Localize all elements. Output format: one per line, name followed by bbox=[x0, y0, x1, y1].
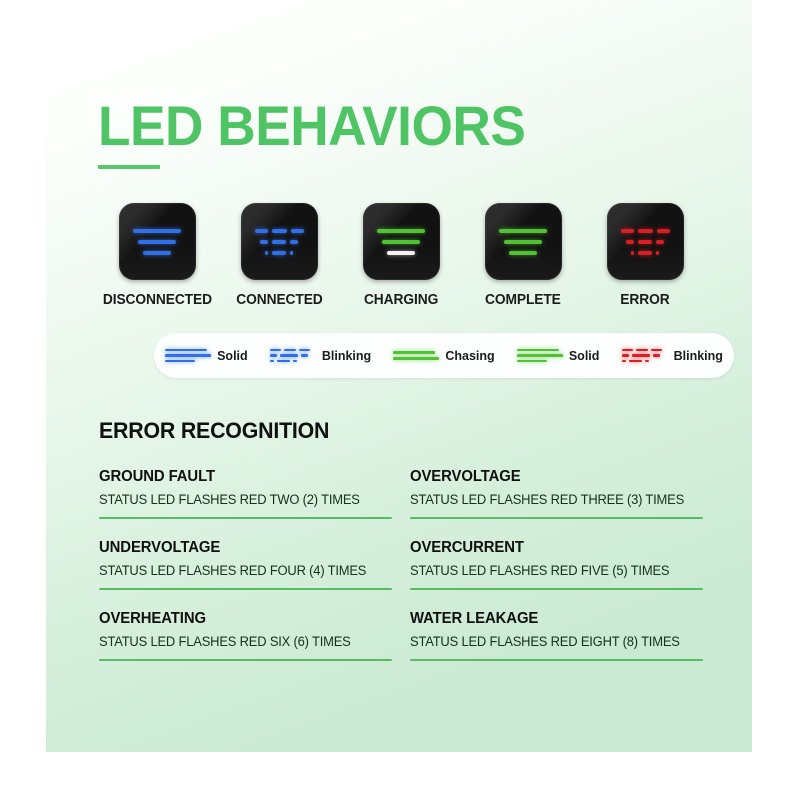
error-description: STATUS LED FLASHES RED FOUR (4) TIMES bbox=[99, 563, 380, 578]
led-line bbox=[165, 360, 195, 363]
legend-label: Solid bbox=[569, 349, 600, 363]
error-item-divider bbox=[410, 659, 703, 661]
led-line bbox=[382, 240, 420, 244]
legend-glyph-blinking-red-icon bbox=[622, 349, 668, 363]
legend-label: Chasing bbox=[445, 349, 494, 363]
led-dash-segment bbox=[272, 251, 286, 255]
led-line bbox=[517, 360, 547, 363]
legend-label: Solid bbox=[217, 349, 248, 363]
led-dash-segment bbox=[265, 251, 268, 255]
led-dash-segment bbox=[631, 251, 634, 255]
device-icon-complete bbox=[485, 203, 562, 280]
legend-item-blinking-blue: Blinking bbox=[270, 349, 371, 363]
led-dash-segment bbox=[622, 349, 633, 352]
error-item-divider bbox=[99, 588, 392, 590]
error-item-divider bbox=[410, 517, 703, 519]
led-pattern-legend: Solid Blinking bbox=[154, 333, 734, 378]
device-icon-error bbox=[607, 203, 684, 280]
led-behaviors-infographic: LED BEHAVIORS DISCONNECTED bbox=[46, 0, 752, 752]
error-item-overvoltage: OVERVOLTAGE STATUS LED FLASHES RED THREE… bbox=[410, 466, 703, 519]
led-line-dashed bbox=[622, 349, 662, 352]
led-dash-segment bbox=[645, 360, 649, 363]
legend-label: Blinking bbox=[322, 349, 371, 363]
led-line-dashed bbox=[270, 360, 297, 363]
led-dash-segment bbox=[270, 360, 274, 363]
page-title: LED BEHAVIORS bbox=[98, 98, 525, 154]
led-line-dashed bbox=[626, 240, 664, 244]
led-dash-segment bbox=[622, 360, 626, 363]
error-title: UNDERVOLTAGE bbox=[99, 539, 380, 557]
error-item-undervoltage: UNDERVOLTAGE STATUS LED FLASHES RED FOUR… bbox=[99, 537, 392, 590]
led-state-row: DISCONNECTED bbox=[101, 203, 701, 308]
error-title: GROUND FAULT bbox=[99, 468, 380, 486]
led-line bbox=[393, 351, 435, 354]
error-description: STATUS LED FLASHES RED EIGHT (8) TIMES bbox=[410, 634, 691, 649]
error-description: STATUS LED FLASHES RED FIVE (5) TIMES bbox=[410, 563, 691, 578]
led-state-label: COMPLETE bbox=[485, 292, 561, 308]
led-pattern-solid-green bbox=[485, 229, 562, 255]
led-dash-segment bbox=[290, 240, 298, 244]
led-line-dashed bbox=[622, 360, 649, 363]
led-state-label: ERROR bbox=[620, 292, 669, 308]
error-item-overcurrent: OVERCURRENT STATUS LED FLASHES RED FIVE … bbox=[410, 537, 703, 590]
led-dash-segment bbox=[626, 240, 634, 244]
error-title: OVERVOLTAGE bbox=[410, 468, 691, 486]
led-line bbox=[517, 349, 559, 352]
led-state-charging: CHARGING bbox=[345, 203, 457, 308]
error-description: STATUS LED FLASHES RED SIX (6) TIMES bbox=[99, 634, 380, 649]
led-state-label: DISCONNECTED bbox=[102, 292, 211, 308]
led-pattern-chasing-green bbox=[363, 229, 440, 255]
led-dash-segment bbox=[657, 229, 670, 233]
led-line bbox=[138, 240, 176, 244]
legend-label: Blinking bbox=[674, 349, 723, 363]
error-item-divider bbox=[99, 659, 392, 661]
header: LED BEHAVIORS bbox=[98, 98, 548, 169]
device-icon-connected bbox=[241, 203, 318, 280]
led-dash-segment bbox=[656, 251, 659, 255]
led-dash-segment bbox=[290, 251, 293, 255]
led-state-label: CONNECTED bbox=[236, 292, 322, 308]
legend-glyph-blinking-blue-icon bbox=[270, 349, 316, 363]
error-item-water-leakage: WATER LEAKAGE STATUS LED FLASHES RED EIG… bbox=[410, 608, 703, 661]
led-line bbox=[165, 349, 207, 352]
led-dash-segment bbox=[280, 354, 298, 357]
led-state-error: ERROR bbox=[589, 203, 701, 308]
error-title: OVERHEATING bbox=[99, 610, 380, 628]
led-dash-segment bbox=[621, 229, 634, 233]
led-line bbox=[393, 357, 439, 360]
error-item-divider bbox=[99, 517, 392, 519]
led-line-dashed bbox=[270, 354, 308, 357]
led-pattern-blinking-blue bbox=[241, 229, 318, 255]
led-dash-segment bbox=[638, 251, 652, 255]
legend-item-blinking-red: Blinking bbox=[622, 349, 723, 363]
led-dash-segment bbox=[653, 354, 660, 357]
led-line bbox=[377, 229, 425, 233]
error-title: WATER LEAKAGE bbox=[410, 610, 691, 628]
legend-glyph-solid-blue-icon bbox=[165, 349, 211, 363]
led-dash-segment bbox=[656, 240, 664, 244]
error-description: STATUS LED FLASHES RED TWO (2) TIMES bbox=[99, 492, 380, 507]
device-icon-charging bbox=[363, 203, 440, 280]
legend-glyph-chasing-green-icon bbox=[393, 351, 439, 359]
led-line-dashed bbox=[631, 251, 659, 255]
legend-item-solid-green: Solid bbox=[517, 349, 600, 363]
led-line bbox=[499, 229, 547, 233]
led-dash-segment bbox=[301, 354, 308, 357]
led-state-label: CHARGING bbox=[364, 292, 438, 308]
led-line bbox=[517, 354, 563, 357]
legend-item-chasing-green: Chasing bbox=[393, 349, 494, 363]
led-dash-segment bbox=[651, 349, 662, 352]
led-line bbox=[509, 251, 537, 255]
led-line-dashed bbox=[260, 240, 298, 244]
led-line bbox=[165, 354, 211, 357]
led-dash-segment bbox=[270, 354, 277, 357]
error-item-overheating: OVERHEATING STATUS LED FLASHES RED SIX (… bbox=[99, 608, 392, 661]
led-dash-segment bbox=[270, 349, 281, 352]
led-line-dashed bbox=[621, 229, 670, 233]
title-underline-accent bbox=[98, 165, 160, 169]
led-line bbox=[143, 251, 171, 255]
led-dash-segment bbox=[638, 229, 653, 233]
led-line bbox=[133, 229, 181, 233]
error-recognition-heading: ERROR RECOGNITION bbox=[99, 418, 329, 444]
led-dash-segment bbox=[638, 240, 652, 244]
led-dash-segment bbox=[272, 229, 287, 233]
error-recognition-grid: GROUND FAULT STATUS LED FLASHES RED TWO … bbox=[99, 466, 703, 661]
led-dash-segment bbox=[299, 349, 310, 352]
led-line-dashed bbox=[255, 229, 304, 233]
led-dash-segment bbox=[272, 240, 286, 244]
led-state-connected: CONNECTED bbox=[223, 203, 335, 308]
error-item-ground-fault: GROUND FAULT STATUS LED FLASHES RED TWO … bbox=[99, 466, 392, 519]
led-dash-segment bbox=[622, 354, 629, 357]
led-dash-segment bbox=[636, 349, 648, 352]
led-line-dashed bbox=[265, 251, 293, 255]
led-line-dashed bbox=[270, 349, 310, 352]
led-pattern-blinking-red bbox=[607, 229, 684, 255]
led-dash-segment bbox=[277, 360, 290, 363]
error-title: OVERCURRENT bbox=[410, 539, 691, 557]
led-dash-segment bbox=[284, 349, 296, 352]
led-dash-segment bbox=[255, 229, 268, 233]
led-state-complete: COMPLETE bbox=[467, 203, 579, 308]
led-line bbox=[504, 240, 542, 244]
legend-item-solid-blue: Solid bbox=[165, 349, 248, 363]
led-dash-segment bbox=[260, 240, 268, 244]
error-item-divider bbox=[410, 588, 703, 590]
led-state-disconnected: DISCONNECTED bbox=[101, 203, 213, 308]
led-dash-segment bbox=[629, 360, 642, 363]
error-description: STATUS LED FLASHES RED THREE (3) TIMES bbox=[410, 492, 691, 507]
led-line-highlight bbox=[387, 251, 415, 255]
device-icon-disconnected bbox=[119, 203, 196, 280]
led-pattern-solid-blue bbox=[119, 229, 196, 255]
led-dash-segment bbox=[291, 229, 304, 233]
led-dash-segment bbox=[293, 360, 297, 363]
legend-glyph-solid-green-icon bbox=[517, 349, 563, 363]
led-line-dashed bbox=[622, 354, 660, 357]
led-dash-segment bbox=[632, 354, 650, 357]
